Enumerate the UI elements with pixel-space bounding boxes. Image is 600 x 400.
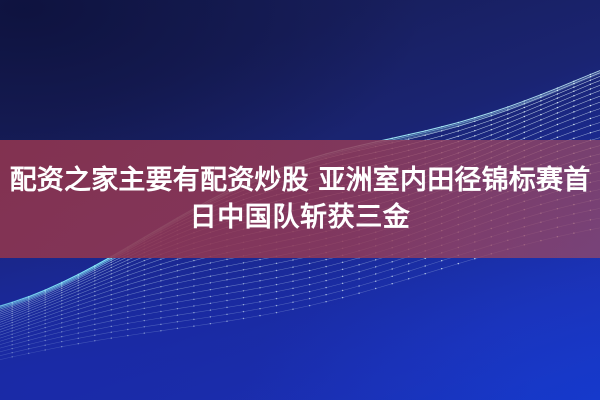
headline-line-2: 日中国队斩获三金 [190,199,411,236]
banner-image: 配资之家主要有配资炒股 亚洲室内田径锦标赛首 日中国队斩获三金 [0,0,600,400]
headline-line-1: 配资之家主要有配资炒股 亚洲室内田径锦标赛首 [10,162,591,199]
headline-band: 配资之家主要有配资炒股 亚洲室内田径锦标赛首 日中国队斩获三金 [0,140,600,258]
